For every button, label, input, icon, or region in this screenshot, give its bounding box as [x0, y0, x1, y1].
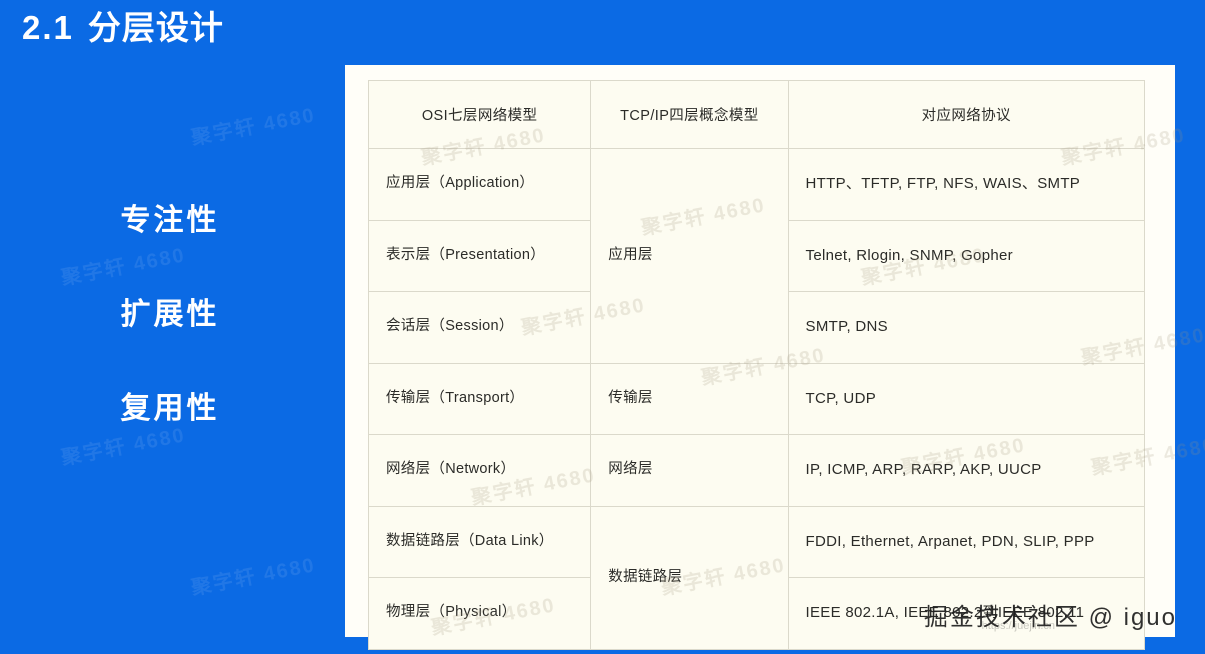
protocol-cell: TCP, UDP [788, 363, 1144, 435]
table-header-row: OSI七层网络模型TCP/IP四层概念模型对应网络协议 [369, 81, 1145, 149]
table-header: OSI七层网络模型TCP/IP四层概念模型对应网络协议 [369, 81, 1145, 149]
osi-layer-cell: 传输层（Transport） [369, 363, 591, 435]
table-row: 网络层（Network）网络层IP, ICMP, ARP, RARP, AKP,… [369, 435, 1145, 507]
tcpip-layer-cell: 传输层 [591, 363, 788, 435]
tcpip-layer-cell: 网络层 [591, 435, 788, 507]
table-body: 应用层（Application）应用层HTTP、TFTP, FTP, NFS, … [369, 149, 1145, 650]
osi-layer-cell: 应用层（Application） [369, 149, 591, 221]
protocol-cell: FDDI, Ethernet, Arpanet, PDN, SLIP, PPP [788, 506, 1144, 578]
table-column-header: TCP/IP四层概念模型 [591, 81, 788, 149]
protocol-cell: Telnet, Rlogin, SNMP, Gopher [788, 220, 1144, 292]
tcpip-layer-cell: 数据链路层 [591, 506, 788, 649]
tiled-watermark: 聚字轩 4680 [188, 548, 317, 601]
osi-layer-cell: 数据链路层（Data Link） [369, 506, 591, 578]
osi-model-table: OSI七层网络模型TCP/IP四层概念模型对应网络协议 应用层（Applicat… [368, 80, 1145, 650]
osi-layer-cell: 物理层（Physical） [369, 578, 591, 650]
feature-list: 专注性扩展性复用性 [0, 196, 330, 478]
table-column-header: OSI七层网络模型 [369, 81, 591, 149]
feature-item: 复用性 [0, 384, 330, 478]
tiled-watermark: 聚字轩 4680 [188, 98, 317, 151]
tcpip-layer-cell: 应用层 [591, 149, 788, 364]
feature-item: 扩展性 [0, 290, 330, 384]
table-row: 数据链路层（Data Link）数据链路层FDDI, Ethernet, Arp… [369, 506, 1145, 578]
osi-layer-cell: 网络层（Network） [369, 435, 591, 507]
page-title-number: 2.1 [22, 9, 74, 46]
protocol-cell: HTTP、TFTP, FTP, NFS, WAIS、SMTP [788, 149, 1144, 221]
corner-credit-watermark: 掘金技术社区 @ iguo [924, 597, 1177, 632]
osi-layer-cell: 会话层（Session） [369, 292, 591, 364]
osi-layer-cell: 表示层（Presentation） [369, 220, 591, 292]
page-title: 2.1分层设计 [22, 6, 224, 50]
table-panel: OSI七层网络模型TCP/IP四层概念模型对应网络协议 应用层（Applicat… [345, 65, 1175, 637]
table-column-header: 对应网络协议 [788, 81, 1144, 149]
protocol-cell: IP, ICMP, ARP, RARP, AKP, UUCP [788, 435, 1144, 507]
page-title-text: 分层设计 [88, 9, 224, 46]
table-row: 传输层（Transport）传输层TCP, UDP [369, 363, 1145, 435]
table-row: 应用层（Application）应用层HTTP、TFTP, FTP, NFS, … [369, 149, 1145, 221]
feature-item: 专注性 [0, 196, 330, 290]
protocol-cell: SMTP, DNS [788, 292, 1144, 364]
